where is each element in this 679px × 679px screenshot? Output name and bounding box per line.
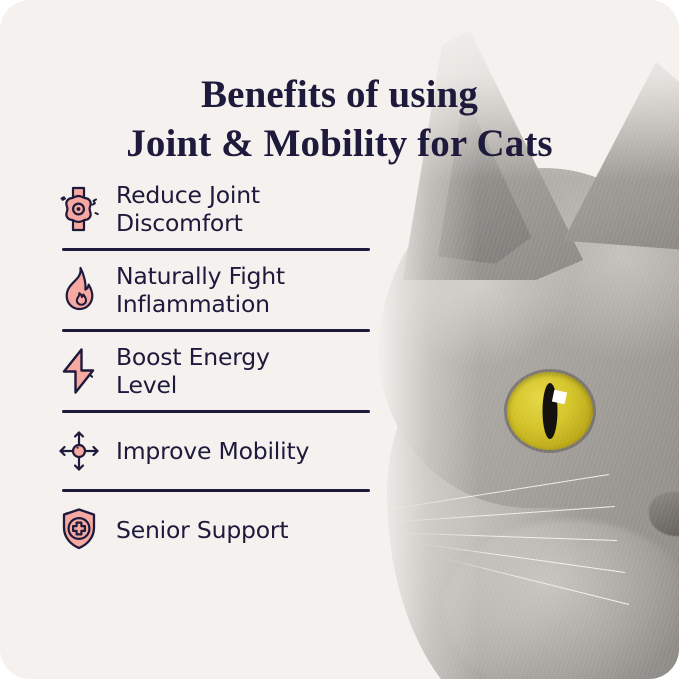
cat-whisker	[372, 474, 609, 513]
benefit-item: Senior Support	[56, 492, 378, 568]
shield-medical-icon	[56, 505, 102, 555]
benefit-label: Naturally Fight Inflammation	[116, 262, 285, 318]
cat-whisker	[380, 506, 615, 523]
title-line-2: Joint & Mobility for Cats	[0, 119, 679, 168]
benefit-item: Reduce Joint Discomfort	[56, 170, 378, 248]
benefit-item: Naturally Fight Inflammation	[56, 251, 378, 329]
joint-pain-icon	[56, 184, 102, 234]
cat-head	[379, 168, 679, 508]
page-title: Benefits of using Joint & Mobility for C…	[0, 70, 679, 168]
cat-nose	[649, 492, 679, 536]
cat-body	[387, 300, 679, 679]
benefits-list: Reduce Joint Discomfort Naturally Fight …	[56, 170, 378, 568]
cat-eye	[507, 372, 593, 450]
benefit-item: Boost Energy Level	[56, 332, 378, 410]
cat-cheek	[445, 520, 679, 679]
benefits-card: Benefits of using Joint & Mobility for C…	[0, 0, 679, 679]
cat-whisker	[389, 532, 617, 541]
lightning-bolt-icon	[56, 346, 102, 396]
cat-pupil	[543, 383, 558, 439]
benefit-label: Improve Mobility	[116, 437, 309, 465]
cat-eye-glint	[552, 389, 567, 403]
cat-whisker	[439, 557, 629, 605]
title-line-1: Benefits of using	[201, 73, 478, 116]
benefit-item: Improve Mobility	[56, 413, 378, 489]
flame-icon	[56, 265, 102, 315]
benefit-label: Boost Energy Level	[116, 343, 270, 399]
cat-whisker	[411, 542, 625, 573]
four-way-arrows-icon	[56, 426, 102, 476]
benefit-label: Reduce Joint Discomfort	[116, 181, 260, 237]
benefit-label: Senior Support	[116, 516, 288, 544]
